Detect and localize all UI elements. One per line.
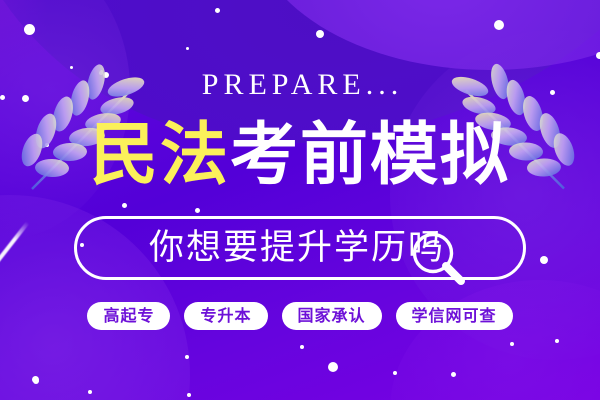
eyebrow-text: PREPARE...	[0, 70, 600, 100]
question-text: 你想要提升学历吗	[149, 231, 451, 266]
question-pill[interactable]: 你想要提升学历吗	[74, 216, 526, 280]
tag-item[interactable]: 国家承认	[282, 302, 382, 330]
search-icon[interactable]	[407, 227, 469, 289]
tag-item[interactable]: 专升本	[184, 302, 267, 330]
page-title: 民法考前模拟	[0, 118, 600, 194]
promo-banner: PREPARE... 民法考前模拟 你想要提升学历吗 高起专 专升本 国家承认 …	[0, 0, 600, 400]
title-highlight: 民法	[90, 116, 230, 195]
tag-item[interactable]: 高起专	[87, 302, 170, 330]
title-plain: 考前模拟	[230, 116, 510, 195]
tag-list: 高起专 专升本 国家承认 学信网可查	[0, 302, 600, 330]
banner-content: PREPARE... 民法考前模拟 你想要提升学历吗 高起专 专升本 国家承认 …	[0, 0, 600, 400]
tag-item[interactable]: 学信网可查	[396, 302, 513, 330]
